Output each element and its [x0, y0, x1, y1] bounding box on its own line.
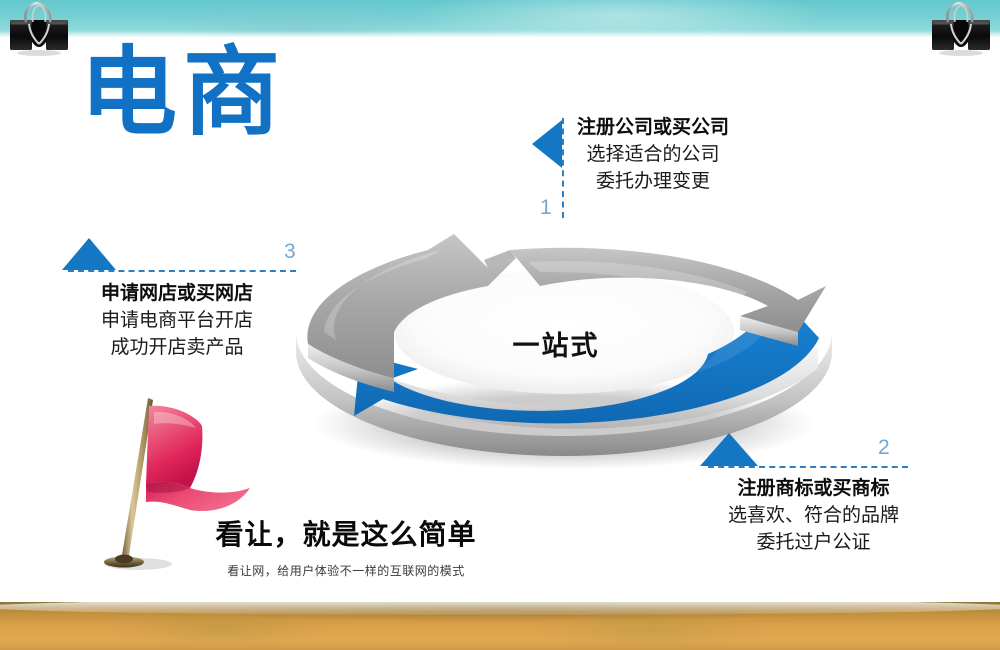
step-2-line-1: 选喜欢、符合的品牌	[706, 500, 921, 527]
step-3-title: 申请网店或买网店	[58, 278, 296, 305]
step-3-number: 3	[284, 240, 296, 264]
triangle-left-icon	[532, 120, 562, 168]
step-1-text: 注册公司或买公司 选择适合的公司 委托办理变更	[577, 112, 729, 193]
top-sky-band	[0, 0, 1000, 37]
step-2-number: 2	[878, 436, 890, 460]
poster-canvas: 电商	[0, 0, 1000, 650]
step-2-dashed-line	[708, 466, 908, 468]
step-1-line-1: 选择适合的公司	[577, 139, 729, 166]
binder-clip-icon	[930, 0, 992, 56]
page-title: 电商	[80, 44, 286, 141]
step-1-dashed-line	[562, 118, 564, 218]
step-3-line-1: 申请电商平台开店	[58, 305, 296, 332]
triangle-up-icon	[700, 433, 758, 466]
step-3-text: 申请网店或买网店 申请电商平台开店 成功开店卖产品	[58, 278, 296, 359]
step-3-dashed-line	[68, 270, 296, 272]
tagline-sub: 看让网，给用户体验不一样的互联网的模式	[196, 562, 496, 579]
bottom-field-band	[0, 602, 1000, 650]
step-2-text: 注册商标或买商标 选喜欢、符合的品牌 委托过户公证	[706, 473, 921, 554]
tagline-block: 看让，就是这么简单 看让网，给用户体验不一样的互联网的模式	[196, 513, 496, 579]
step-1-line-2: 委托办理变更	[577, 166, 729, 193]
step-1-number: 1	[540, 196, 552, 220]
step-2-title: 注册商标或买商标	[706, 473, 921, 500]
step-1-title: 注册公司或买公司	[577, 112, 729, 139]
tagline-main: 看让，就是这么简单	[196, 513, 496, 553]
triangle-up-icon	[62, 238, 116, 270]
step-2-line-2: 委托过户公证	[706, 527, 921, 554]
step-3-line-2: 成功开店卖产品	[58, 332, 296, 359]
ring-center-label: 一站式	[278, 324, 834, 363]
binder-clip-icon	[8, 0, 70, 56]
